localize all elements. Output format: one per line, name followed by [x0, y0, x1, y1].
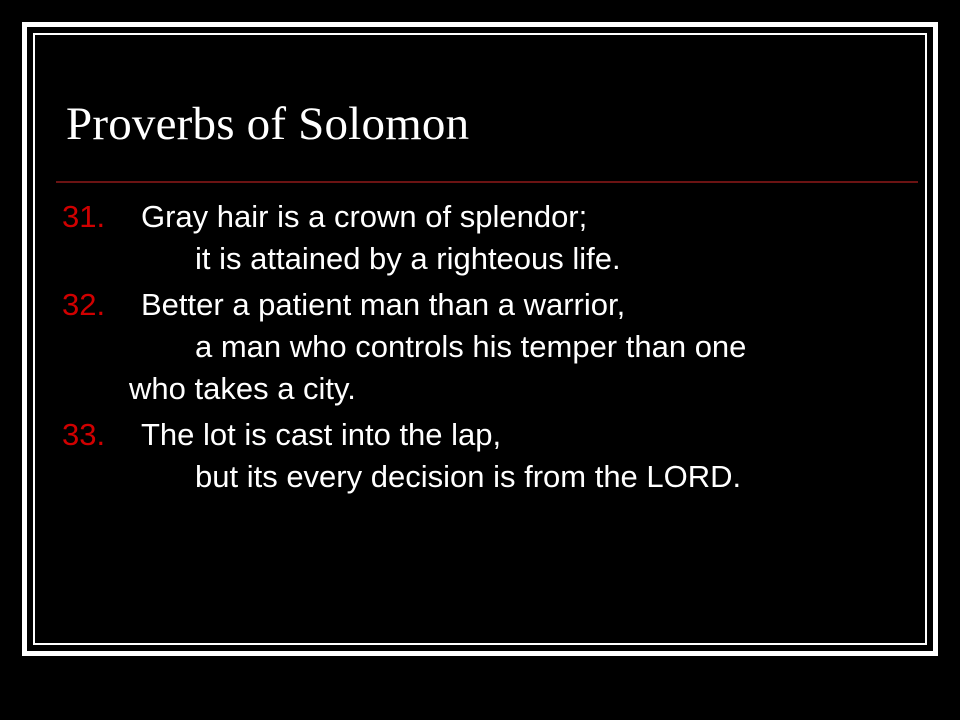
verse-number: 32.	[62, 284, 132, 326]
verse-line-text: Better a patient man than a warrior,	[141, 284, 625, 326]
verse-first-line: 33. The lot is cast into the lap,	[0, 414, 960, 456]
verse-number: 31.	[62, 196, 132, 238]
verse-number: 33.	[62, 414, 132, 456]
verse-first-line: 32. Better a patient man than a warrior,	[0, 284, 960, 326]
verse-line-text: who takes a city.	[129, 368, 960, 410]
verse-line-text: but its every decision is from the LORD.	[195, 456, 960, 498]
verse-line-text: The lot is cast into the lap,	[141, 414, 501, 456]
slide: Proverbs of Solomon 31. Gray hair is a c…	[0, 0, 960, 720]
verse-item: 32. Better a patient man than a warrior,…	[0, 284, 960, 410]
verse-item: 33. The lot is cast into the lap, but it…	[0, 414, 960, 498]
title-divider-rule	[56, 181, 918, 183]
verse-line-text: Gray hair is a crown of splendor;	[141, 196, 587, 238]
verse-first-line: 31. Gray hair is a crown of splendor;	[0, 196, 960, 238]
verse-line-text: it is attained by a righteous life.	[195, 238, 960, 280]
page-title: Proverbs of Solomon	[66, 96, 469, 152]
slide-content: Proverbs of Solomon 31. Gray hair is a c…	[0, 0, 960, 720]
verse-item: 31. Gray hair is a crown of splendor; it…	[0, 196, 960, 280]
verse-list: 31. Gray hair is a crown of splendor; it…	[0, 196, 960, 506]
verse-line-text: a man who controls his temper than one	[195, 326, 960, 368]
